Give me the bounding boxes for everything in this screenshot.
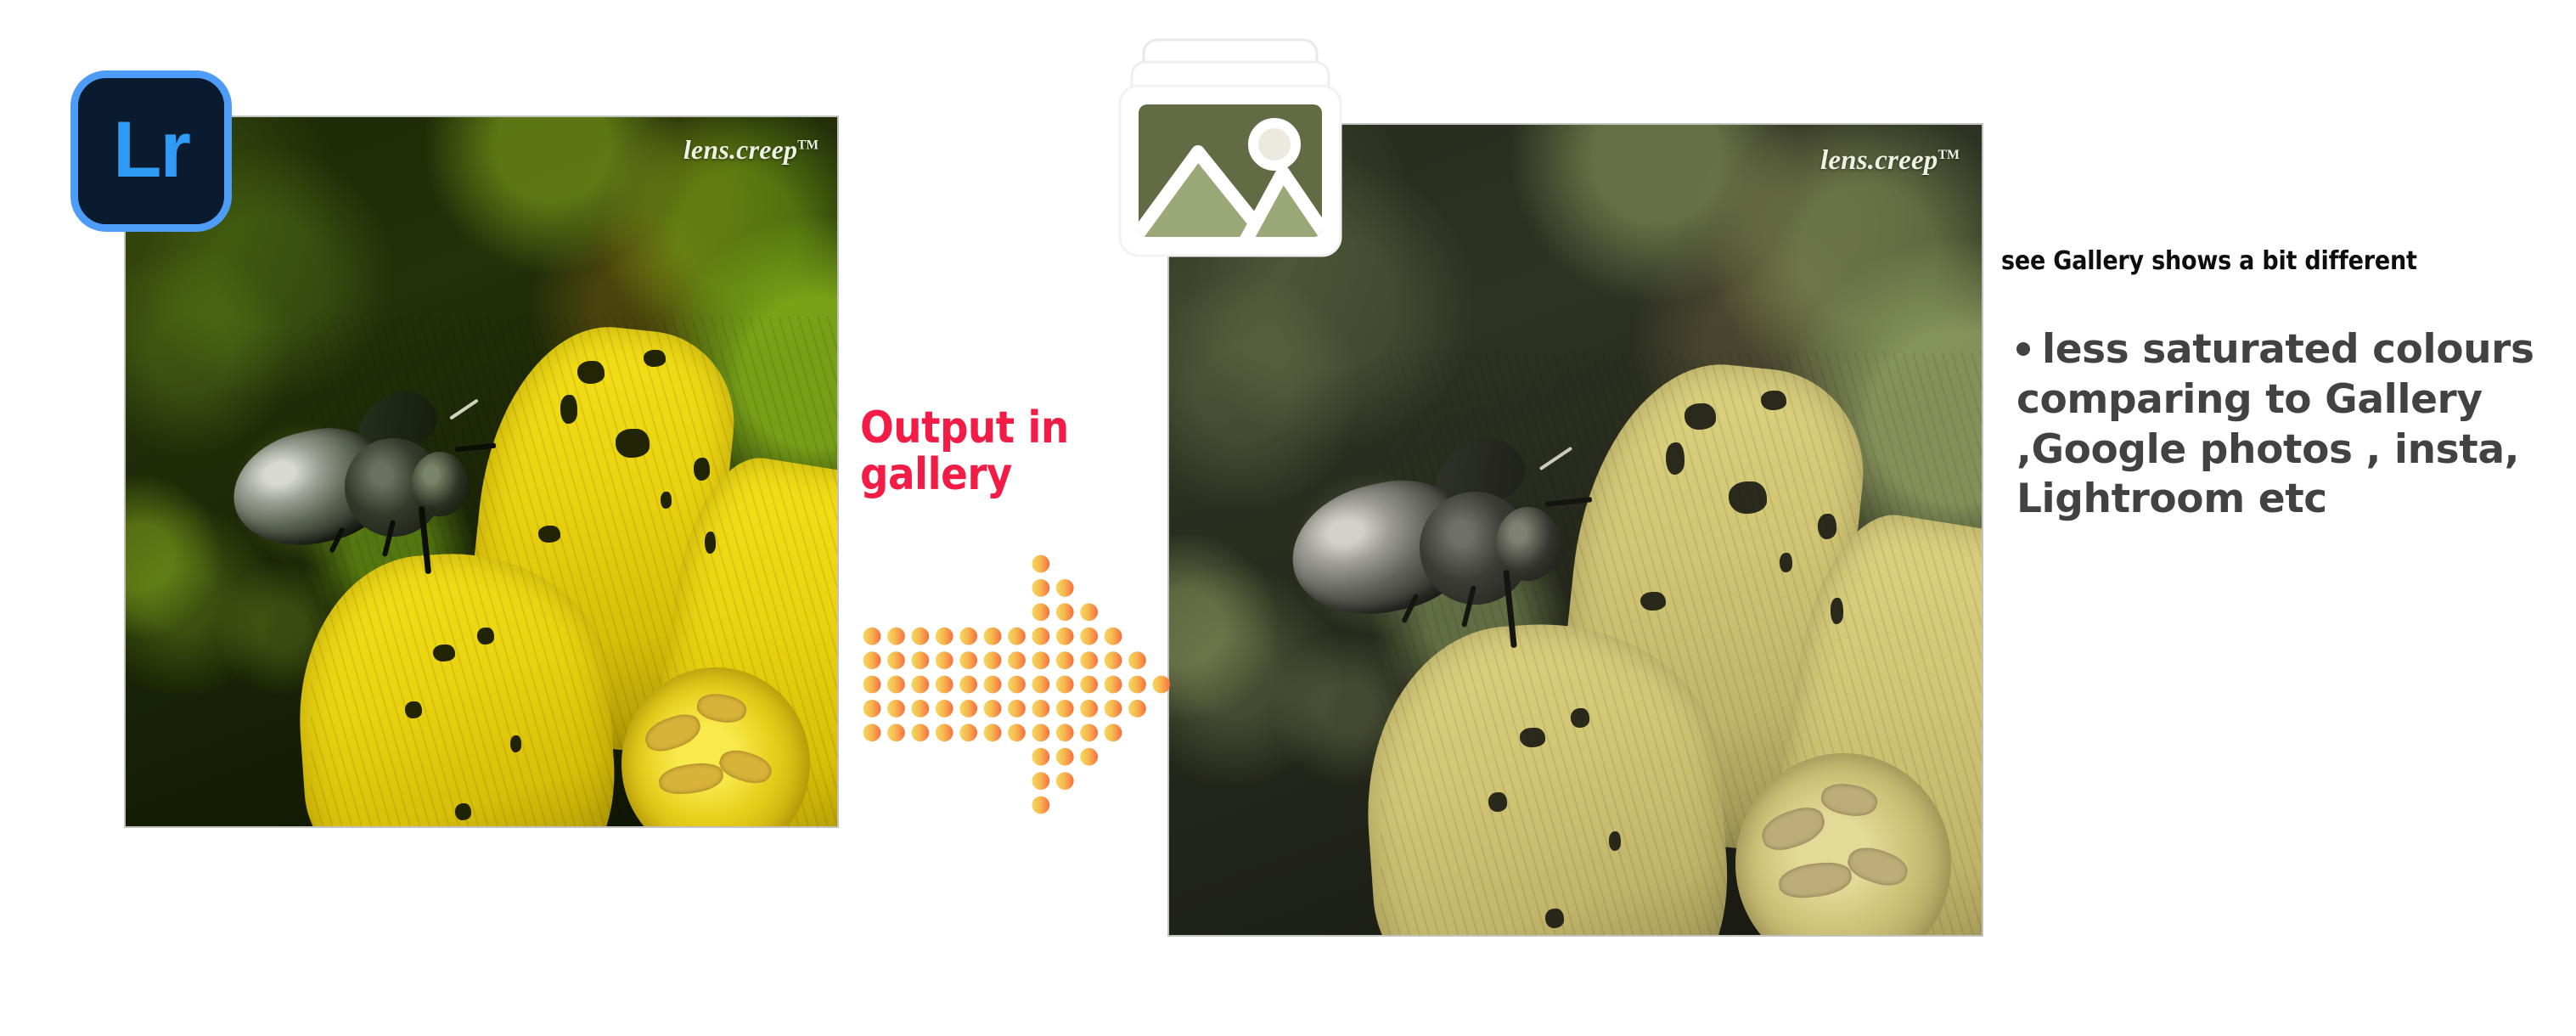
petal-hole	[1545, 909, 1564, 928]
arrow-dot	[1128, 651, 1146, 669]
arrow-dot	[1032, 603, 1049, 621]
arrow-dot	[1080, 628, 1098, 645]
petal-hole	[1831, 598, 1843, 624]
arrow-dot	[1080, 748, 1098, 766]
arrow-dot	[1032, 651, 1049, 669]
arrow-dot	[1032, 628, 1049, 645]
petal-hole	[1488, 792, 1507, 812]
petal-hole	[510, 735, 521, 752]
arrow-dot	[959, 628, 977, 645]
bullet-point-icon	[2016, 342, 2030, 356]
arrow-dot	[887, 628, 905, 645]
stamen-curl	[717, 744, 776, 789]
arrow-dot	[1008, 700, 1026, 718]
arrow-dot	[1105, 700, 1122, 718]
arrow-dot	[936, 700, 953, 718]
arrow-dot	[863, 628, 881, 645]
petal-hole	[1640, 592, 1666, 611]
flower-group	[311, 316, 837, 826]
bee-antenna	[1539, 447, 1572, 470]
output-label-line2: gallery	[860, 452, 1166, 498]
stamen-curl	[1758, 802, 1830, 855]
petal-hole	[644, 350, 666, 367]
petal-hole	[538, 526, 560, 543]
arrow-dot	[1056, 724, 1074, 741]
arrow-dot	[936, 676, 953, 694]
petal-hole	[577, 361, 605, 384]
arrow-dot	[1105, 676, 1122, 694]
arrow-dot	[1032, 579, 1049, 597]
arrow-dot	[1056, 651, 1074, 669]
note-heading: see Gallery shows a bit different	[2001, 246, 2562, 276]
arrow-dot	[1032, 772, 1049, 790]
arrow-dot	[1080, 724, 1098, 741]
arrow-dot	[984, 628, 1002, 645]
lightroom-photo[interactable]: lens.creepTM	[126, 117, 837, 826]
arrow-dot	[936, 724, 953, 741]
petal-hole	[1609, 831, 1622, 851]
gallery-photos-stack-icon[interactable]	[1116, 37, 1344, 272]
petal-hole	[1761, 391, 1786, 410]
arrow-dot	[1056, 748, 1074, 766]
arrow-dot	[911, 676, 929, 694]
arrow-dot	[1032, 797, 1049, 814]
watermark-lenscreep: lens.creepTM	[683, 134, 818, 166]
stamen-curl	[1819, 779, 1880, 820]
note-body: less saturated colours comparing to Gall…	[2016, 325, 2560, 525]
arrow-dot	[1032, 724, 1049, 741]
arrow-dot	[959, 651, 977, 669]
arrow-dot	[1080, 603, 1098, 621]
arrow-dot	[1080, 651, 1098, 669]
petal-hole	[433, 645, 455, 662]
arrow-dot	[887, 651, 905, 669]
petal-hole	[1729, 481, 1767, 514]
arrow-dot	[1128, 700, 1146, 718]
arrow-dot	[959, 700, 977, 718]
note-body-text: less saturated colours comparing to Gall…	[2016, 326, 2534, 522]
arrow-dot	[936, 651, 953, 669]
bee-antenna	[449, 398, 479, 419]
petal-hole	[1780, 553, 1792, 572]
stamen-curl	[695, 690, 748, 726]
arrow-dot	[1056, 700, 1074, 718]
lightroom-photo-canvas	[126, 117, 837, 826]
arrow-dot	[1056, 676, 1074, 694]
arrow-dot	[1032, 676, 1049, 694]
arrow-dot	[1056, 603, 1074, 621]
petal-hole	[661, 492, 672, 509]
arrow-dot	[863, 724, 881, 741]
arrow-dot	[911, 651, 929, 669]
arrow-dot	[1105, 651, 1122, 669]
arrow-dot	[1056, 579, 1074, 597]
arrow-dot	[959, 724, 977, 741]
stamen-curl	[641, 710, 705, 757]
petal-hole	[1666, 442, 1685, 475]
petal-hole	[1571, 708, 1589, 728]
arrow-dot	[887, 700, 905, 718]
petal-hole	[694, 458, 711, 481]
stamen-curl	[1777, 860, 1853, 901]
arrow-dot	[1008, 651, 1026, 669]
arrow-dot	[1105, 628, 1122, 645]
arrow-dot	[1056, 628, 1074, 645]
arrow-dot	[911, 700, 929, 718]
dot-matrix-right-arrow-icon	[860, 552, 1174, 824]
arrow-dot	[1008, 724, 1026, 741]
arrow-dot	[1008, 628, 1026, 645]
lightroom-icon-label: Lr	[113, 110, 189, 189]
arrow-dot	[984, 651, 1002, 669]
arrow-dot	[863, 651, 881, 669]
arrow-dot	[863, 700, 881, 718]
flower-group	[1381, 352, 1982, 935]
arrow-dot	[959, 676, 977, 694]
arrow-dot	[887, 724, 905, 741]
arrow-dot	[887, 676, 905, 694]
arrow-dot	[1056, 772, 1074, 790]
arrow-dot	[1080, 676, 1098, 694]
arrow-dot	[936, 628, 953, 645]
petal-hole	[1818, 514, 1836, 540]
arrow-dot	[984, 700, 1002, 718]
arrow-dot	[863, 676, 881, 694]
bee	[233, 401, 489, 571]
arrow-dot	[1032, 700, 1049, 718]
arrow-dot	[911, 724, 929, 741]
arrow-dot	[984, 724, 1002, 741]
petal-hole	[1520, 728, 1545, 747]
stamen-curl	[658, 761, 725, 797]
petal-hole	[705, 532, 716, 555]
petal-hole	[455, 803, 472, 820]
lightroom-icon-inner: Lr	[78, 78, 224, 224]
petal-hole	[616, 429, 649, 457]
arrow-dot	[1152, 676, 1170, 694]
watermark-lenscreep: lens.creepTM	[1820, 145, 1960, 177]
bee	[1291, 449, 1584, 644]
arrow-dot	[1105, 724, 1122, 741]
output-label-line1: Output in	[860, 405, 1166, 452]
arrow-dot	[1128, 676, 1146, 694]
lightroom-app-icon[interactable]: Lr	[70, 70, 232, 232]
stamen-curl	[1843, 841, 1911, 892]
arrow-dot	[1032, 748, 1049, 766]
arrow-dot	[1032, 555, 1049, 573]
arrow-dot	[911, 628, 929, 645]
arrow-dot	[984, 676, 1002, 694]
arrow-dot	[1008, 676, 1026, 694]
petal-hole	[477, 628, 494, 645]
petal-hole	[560, 395, 577, 423]
arrow-dot	[1080, 700, 1098, 718]
output-in-gallery-label: Output in gallery	[860, 405, 1166, 498]
petal-hole	[405, 701, 422, 718]
petal-hole	[1685, 403, 1716, 430]
